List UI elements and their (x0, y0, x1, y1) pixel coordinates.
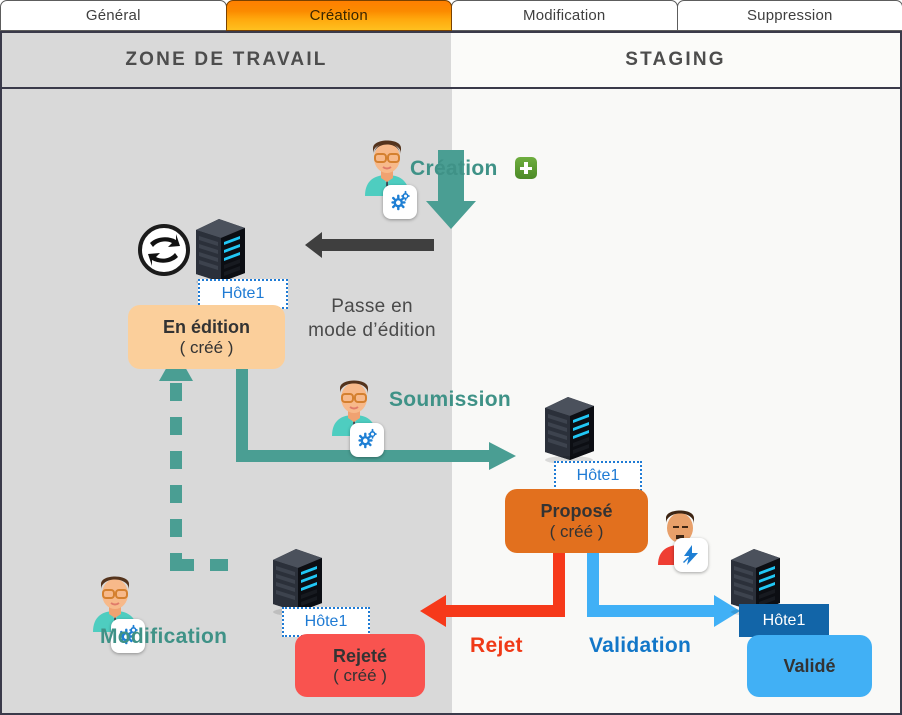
server-propose-icon (537, 394, 599, 464)
server-rejete-icon (265, 546, 327, 616)
status-title: Rejeté (333, 646, 387, 666)
passe-line-1: Passe en (294, 295, 450, 319)
arrow-passe-en-mode-edition (305, 232, 434, 258)
caption-validation: Validation (589, 634, 691, 658)
tab-label: Modification (523, 7, 605, 24)
server-glyph (265, 546, 327, 616)
gear-icon (355, 428, 379, 452)
status-box-valide: Validé (747, 635, 872, 697)
user-gear-badge (350, 423, 384, 457)
server-en-edition-icon (188, 216, 250, 286)
caption-modification: Modification (100, 625, 227, 649)
tab-label: Suppression (747, 7, 833, 24)
sync-icon (138, 224, 190, 276)
host-label-rejete: Hôte1 (282, 607, 370, 637)
status-box-propose: Proposé ( créé ) (505, 489, 648, 553)
status-subtitle: ( créé ) (180, 338, 234, 357)
tab-general[interactable]: Général (0, 0, 227, 31)
tab-suppression[interactable]: Suppression (677, 0, 902, 31)
caption-rejet: Rejet (470, 634, 523, 658)
host-label-propose: Hôte1 (554, 461, 642, 491)
user-gear-badge (383, 185, 417, 219)
tab-label: Général (86, 7, 141, 24)
host-label-valide: Hôte1 (739, 604, 829, 637)
passe-line-2: mode d’édition (294, 319, 450, 343)
tab-creation[interactable]: Création (226, 0, 453, 31)
caption-soumission: Soumission (389, 388, 511, 412)
tab-bar: Général Création Modification Suppressio… (0, 0, 902, 31)
tab-label: Création (310, 7, 368, 24)
status-subtitle: ( créé ) (550, 522, 604, 541)
status-title: Validé (783, 656, 835, 676)
arrow-modification-dashed (176, 373, 242, 571)
diagram-frame: ZONE DE TRAVAIL STAGING (0, 31, 902, 715)
plus-badge-icon (515, 157, 537, 179)
user-bolt-badge (674, 538, 708, 572)
gear-icon (388, 190, 412, 214)
status-title: Proposé (540, 501, 612, 521)
caption-passe-en-mode-edition: Passe en mode d’édition (294, 295, 450, 343)
status-box-en-edition: En édition ( créé ) (128, 305, 285, 369)
tab-modification[interactable]: Modification (451, 0, 678, 31)
diagram-canvas: Création (2, 33, 900, 713)
workflow-diagram-page: Général Création Modification Suppressio… (0, 0, 902, 715)
status-title: En édition (163, 317, 250, 337)
bolt-icon (679, 543, 703, 567)
status-box-rejete: Rejeté ( créé ) (295, 634, 425, 697)
status-subtitle: ( créé ) (333, 666, 387, 685)
server-glyph (188, 216, 250, 286)
server-glyph (537, 394, 599, 464)
sync-glyph (138, 224, 190, 276)
caption-creation: Création (410, 157, 498, 181)
